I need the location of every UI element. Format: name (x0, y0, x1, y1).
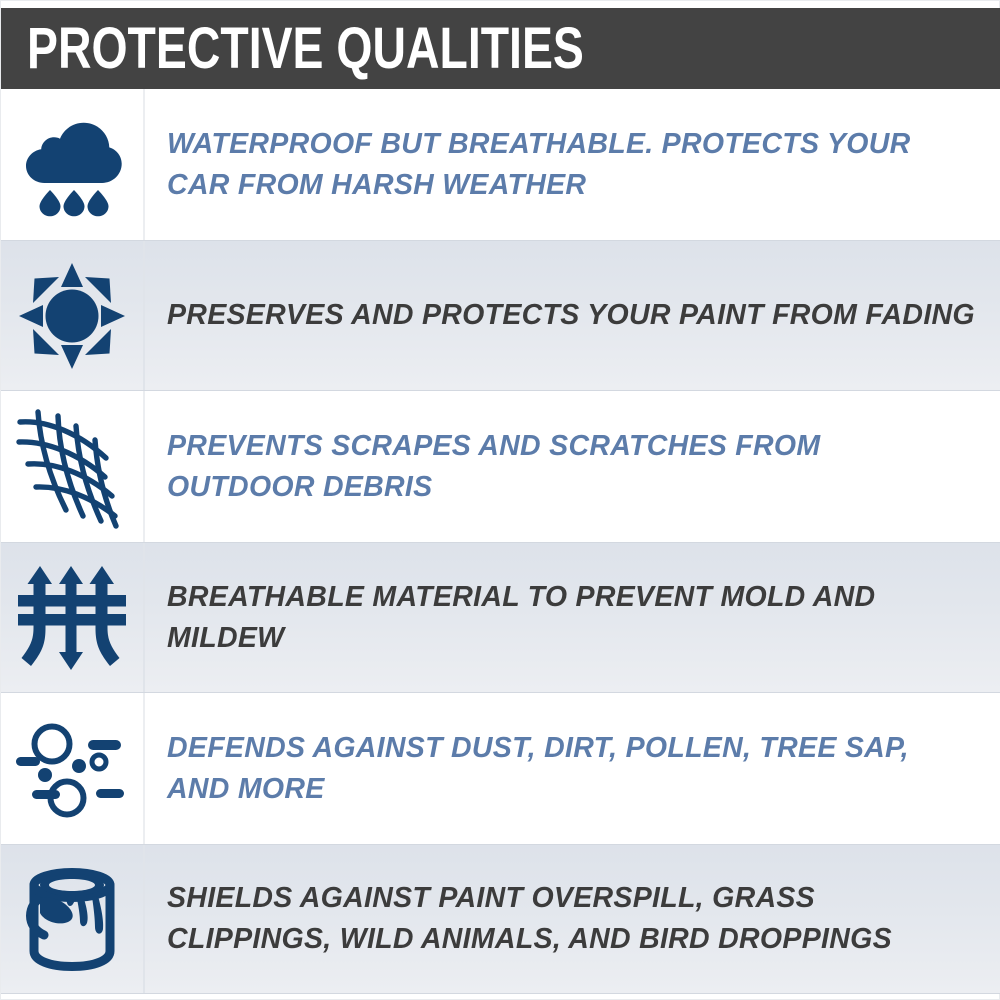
paint-can-icon (20, 865, 124, 973)
header-bar: PROTECTIVE QUALITIES (1, 8, 1000, 89)
airflow-arrows-icon (18, 562, 126, 674)
icon-cell (1, 89, 145, 240)
text-cell: PREVENTS SCRAPES AND SCRATCHES FROM OUTD… (145, 391, 1000, 542)
icon-cell (1, 543, 145, 692)
dust-particles-icon (16, 719, 128, 819)
feature-list: WATERPROOF BUT BREATHABLE. PROTECTS YOUR… (1, 89, 1000, 994)
text-cell: DEFENDS AGAINST DUST, DIRT, POLLEN, TREE… (145, 693, 1000, 844)
feature-row: WATERPROOF BUT BREATHABLE. PROTECTS YOUR… (1, 89, 1000, 240)
page-title: PROTECTIVE QUALITIES (27, 20, 584, 78)
feature-row: PREVENTS SCRAPES AND SCRATCHES FROM OUTD… (1, 391, 1000, 542)
feature-text: SHIELDS AGAINST PAINT OVERSPILL, GRASS C… (167, 878, 975, 960)
icon-cell (1, 845, 145, 993)
infographic-page: PROTECTIVE QUALITIES WATERPROOF BUT BREA… (0, 0, 1000, 1000)
feature-text: WATERPROOF BUT BREATHABLE. PROTECTS YOUR… (167, 124, 975, 206)
mesh-net-icon (14, 404, 130, 530)
text-cell: WATERPROOF BUT BREATHABLE. PROTECTS YOUR… (145, 89, 1000, 240)
icon-cell (1, 391, 145, 542)
icon-cell (1, 241, 145, 390)
feature-row: DEFENDS AGAINST DUST, DIRT, POLLEN, TREE… (1, 693, 1000, 844)
rain-cloud-icon (18, 111, 126, 219)
feature-row: BREATHABLE MATERIAL TO PREVENT MOLD AND … (1, 542, 1000, 693)
feature-text: BREATHABLE MATERIAL TO PREVENT MOLD AND … (167, 577, 975, 659)
icon-cell (1, 693, 145, 844)
sun-icon (19, 263, 125, 369)
feature-text: PREVENTS SCRAPES AND SCRATCHES FROM OUTD… (167, 426, 975, 508)
feature-row: SHIELDS AGAINST PAINT OVERSPILL, GRASS C… (1, 844, 1000, 994)
feature-text: PRESERVES AND PROTECTS YOUR PAINT FROM F… (167, 295, 975, 336)
text-cell: SHIELDS AGAINST PAINT OVERSPILL, GRASS C… (145, 845, 1000, 993)
feature-row: PRESERVES AND PROTECTS YOUR PAINT FROM F… (1, 240, 1000, 391)
feature-text: DEFENDS AGAINST DUST, DIRT, POLLEN, TREE… (167, 728, 975, 810)
text-cell: PRESERVES AND PROTECTS YOUR PAINT FROM F… (145, 241, 1000, 390)
text-cell: BREATHABLE MATERIAL TO PREVENT MOLD AND … (145, 543, 1000, 692)
